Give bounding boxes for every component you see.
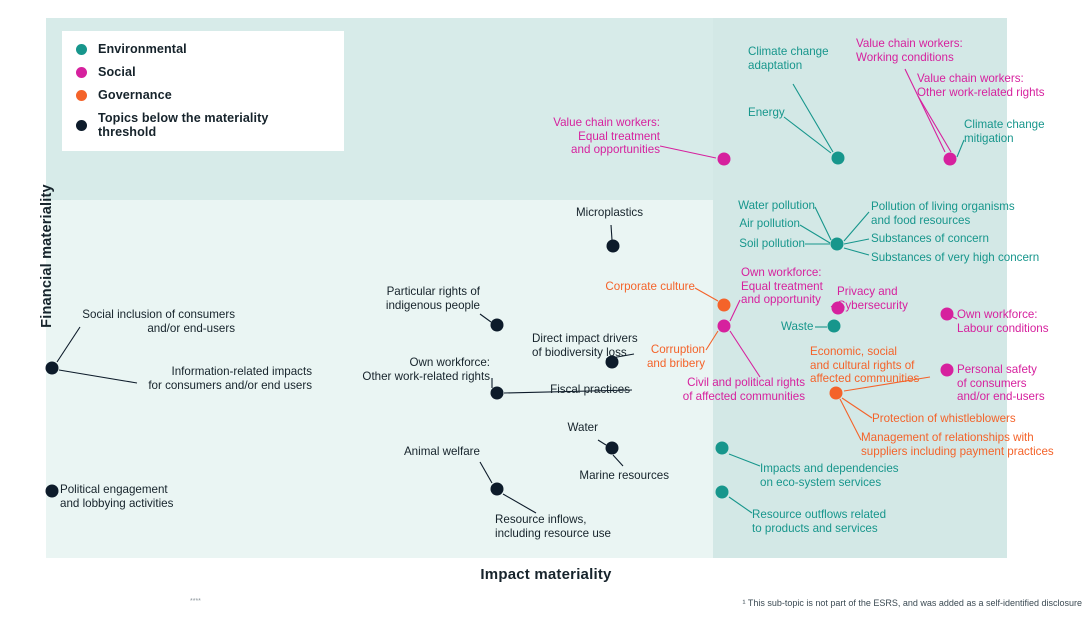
legend-item-environmental: Environmental (76, 42, 328, 56)
point-impacts-ecosystem-services[interactable] (716, 442, 729, 455)
legend-item-social: Social (76, 65, 328, 79)
point-animal-welfare-resource-inflows[interactable] (491, 483, 504, 496)
label-value-chain-working-conditions: Value chain workers: Working conditions (856, 37, 963, 64)
point-resource-outflows[interactable] (716, 486, 729, 499)
legend: Environmental Social Governance Topics b… (62, 31, 344, 151)
legend-dot-social (76, 67, 87, 78)
label-impacts-ecosystem-services: Impacts and dependencies on eco-system s… (760, 462, 899, 489)
legend-label-governance: Governance (98, 88, 172, 102)
point-waste[interactable] (828, 320, 841, 333)
point-climate-energy-cluster[interactable] (832, 152, 845, 165)
label-management-relationships-suppliers: Management of relationships with supplie… (861, 431, 1054, 458)
x-axis-title: Impact materiality (0, 566, 1092, 583)
label-microplastics: Microplastics (576, 206, 643, 220)
label-climate-change-adaptation: Climate change adaptation (748, 45, 829, 72)
materiality-matrix-chart: Environmental Social Governance Topics b… (0, 0, 1092, 623)
point-personal-safety-consumers[interactable] (941, 364, 954, 377)
label-civil-political-rights: Civil and political rights of affected c… (600, 376, 805, 403)
label-political-engagement: Political engagement and lobbying activi… (60, 483, 173, 510)
point-economic-social-cultural-rights[interactable] (830, 387, 843, 400)
label-social-inclusion-consumers: Social inclusion of consumers and/or end… (40, 308, 235, 335)
label-particular-rights-indigenous: Particular rights of indigenous people (320, 285, 480, 312)
legend-label-social: Social (98, 65, 136, 79)
label-own-workforce-labour-conditions: Own workforce: Labour conditions (957, 308, 1049, 335)
label-corruption-bribery: Corruption and bribery (570, 343, 705, 370)
label-energy: Energy (748, 106, 785, 120)
point-own-workforce-equal-treatment[interactable] (718, 320, 731, 333)
label-animal-welfare: Animal welfare (330, 445, 480, 459)
label-protection-whistleblowers: Protection of whistleblowers (872, 412, 1016, 426)
label-air-pollution: Air pollution (665, 217, 800, 231)
label-value-chain-equal-treatment: Value chain workers: Equal treatment and… (460, 116, 660, 157)
label-waste: Waste (781, 320, 813, 334)
legend-dot-environmental (76, 44, 87, 55)
point-value-chain-equal-treatment[interactable] (718, 153, 731, 166)
point-value-chain-workers-cluster[interactable] (944, 153, 957, 166)
label-water-pollution: Water pollution (665, 199, 815, 213)
legend-item-governance: Governance (76, 88, 328, 102)
point-own-workforce-labour-conditions[interactable] (941, 308, 954, 321)
label-pollution-living-organisms: Pollution of living organisms and food r… (871, 200, 1015, 227)
legend-item-below-threshold: Topics below the materiality threshold (76, 111, 328, 139)
label-corporate-culture: Corporate culture (540, 280, 695, 294)
y-axis-title: Financial materiality (39, 146, 55, 366)
label-marine-resources: Marine resources (495, 469, 669, 483)
point-corporate-culture[interactable] (718, 299, 731, 312)
point-water-marine-resources[interactable] (606, 442, 619, 455)
label-water: Water (490, 421, 598, 435)
footnote-left: **** (190, 598, 201, 605)
label-value-chain-other-rights: Value chain workers: Other work-related … (917, 72, 1045, 99)
label-privacy-cybersecurity: Privacy and Cybersecurity (837, 285, 908, 312)
label-substances-of-concern: Substances of concern (871, 232, 989, 246)
legend-label-environmental: Environmental (98, 42, 187, 56)
label-own-workforce-other-rights: Own workforce: Other work-related rights (300, 356, 490, 383)
point-microplastics[interactable] (607, 240, 620, 253)
point-particular-rights-indigenous[interactable] (491, 319, 504, 332)
legend-label-below-threshold: Topics below the materiality threshold (98, 111, 328, 139)
label-soil-pollution: Soil pollution (665, 237, 805, 251)
label-economic-social-cultural-rights: Economic, social and cultural rights of … (810, 345, 919, 386)
label-personal-safety-consumers: Personal safety of consumers and/or end-… (957, 363, 1045, 404)
point-political-engagement[interactable] (46, 485, 59, 498)
label-climate-change-mitigation: Climate change mitigation (964, 118, 1045, 145)
label-own-workforce-equal-treatment: Own workforce: Equal treatment and oppor… (741, 266, 823, 307)
label-resource-outflows: Resource outflows related to products an… (752, 508, 886, 535)
label-information-related-impacts: Information-related impacts for consumer… (90, 365, 312, 392)
point-pollution-cluster[interactable] (831, 238, 844, 251)
label-substances-very-high-concern: Substances of very high concern (871, 251, 1039, 265)
footnote-right: ¹ This sub-topic is not part of the ESRS… (742, 598, 1082, 608)
legend-dot-governance (76, 90, 87, 101)
legend-dot-below-threshold (76, 120, 87, 131)
label-resource-inflows: Resource inflows, including resource use (495, 513, 611, 540)
